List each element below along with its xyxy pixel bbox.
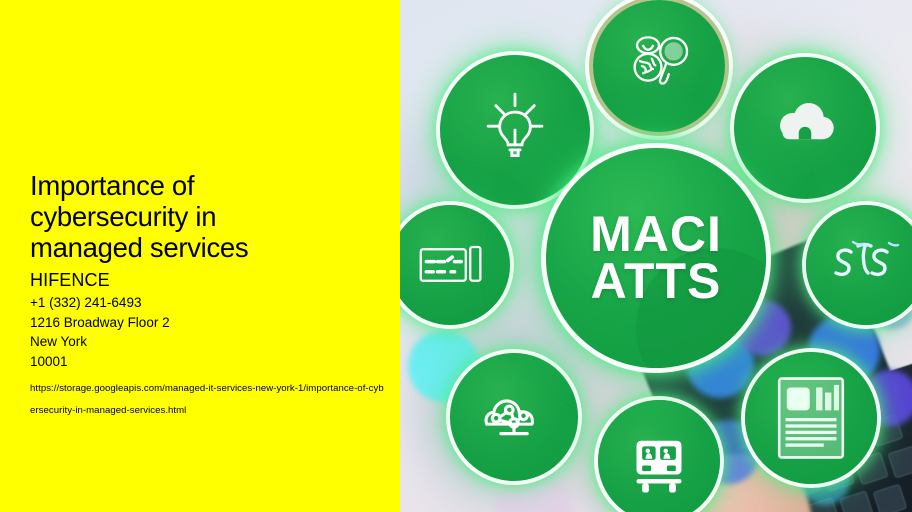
address-zip: 10001 <box>30 352 386 372</box>
abstract-sts-icon <box>827 232 905 298</box>
text-block: Importance of cybersecurity in managed s… <box>30 170 386 422</box>
lightbulb-icon <box>474 89 556 171</box>
phone-number: +1 (332) 241-6493 <box>30 293 386 313</box>
badge-cloud[interactable] <box>734 57 876 199</box>
address-line1: 1216 Broadway Floor 2 <box>30 313 386 333</box>
bus-icon <box>623 425 695 497</box>
cloud-icon <box>765 88 845 168</box>
source-url[interactable]: https://storage.googleapis.com/managed-i… <box>30 378 386 422</box>
center-badge-line1: MACI <box>590 211 722 258</box>
credit-card-icon <box>414 229 486 301</box>
page-title: Importance of cybersecurity in managed s… <box>30 170 330 263</box>
badge-cloud-network[interactable] <box>450 353 578 481</box>
badge-lightbulb[interactable] <box>440 55 590 205</box>
magnifying-glass-icon <box>620 27 698 105</box>
cloud-network-icon <box>476 379 552 455</box>
badge-credit-card[interactable] <box>400 205 510 325</box>
brand-name: HIFENCE <box>30 269 386 291</box>
center-badge[interactable]: MACI ATTS <box>546 148 766 368</box>
left-text-panel: Importance of cybersecurity in managed s… <box>0 0 400 512</box>
address-city: New York <box>30 332 386 352</box>
badge-document-report[interactable] <box>745 352 877 484</box>
illustration-panel: MACI ATTS <box>400 0 912 512</box>
slide-root: Importance of cybersecurity in managed s… <box>0 0 912 512</box>
badge-magnifier[interactable] <box>593 0 725 132</box>
document-report-icon <box>774 376 848 460</box>
center-badge-line2: ATTS <box>591 258 722 305</box>
badge-bus[interactable] <box>598 400 720 512</box>
